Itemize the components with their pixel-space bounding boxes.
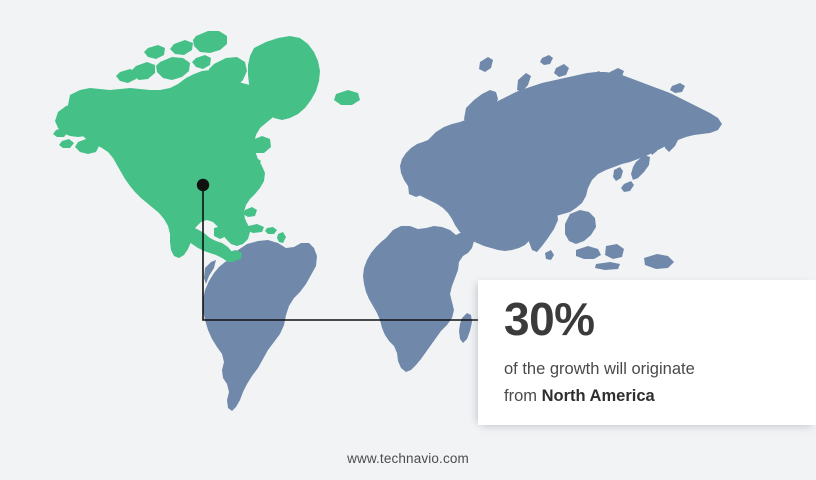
callout-region-name: North America (542, 387, 655, 405)
callout-box: 30% of the growth will originate from No… (478, 280, 816, 425)
percent-value: 30% (504, 296, 796, 342)
callout-description: of the growth will originate from North … (504, 356, 796, 409)
infographic-canvas: 30% of the growth will originate from No… (0, 0, 816, 480)
callout-line-1: of the growth will originate (504, 360, 695, 378)
footer-url: www.technavio.com (0, 451, 816, 466)
callout-line-2-prefix: from (504, 387, 542, 405)
